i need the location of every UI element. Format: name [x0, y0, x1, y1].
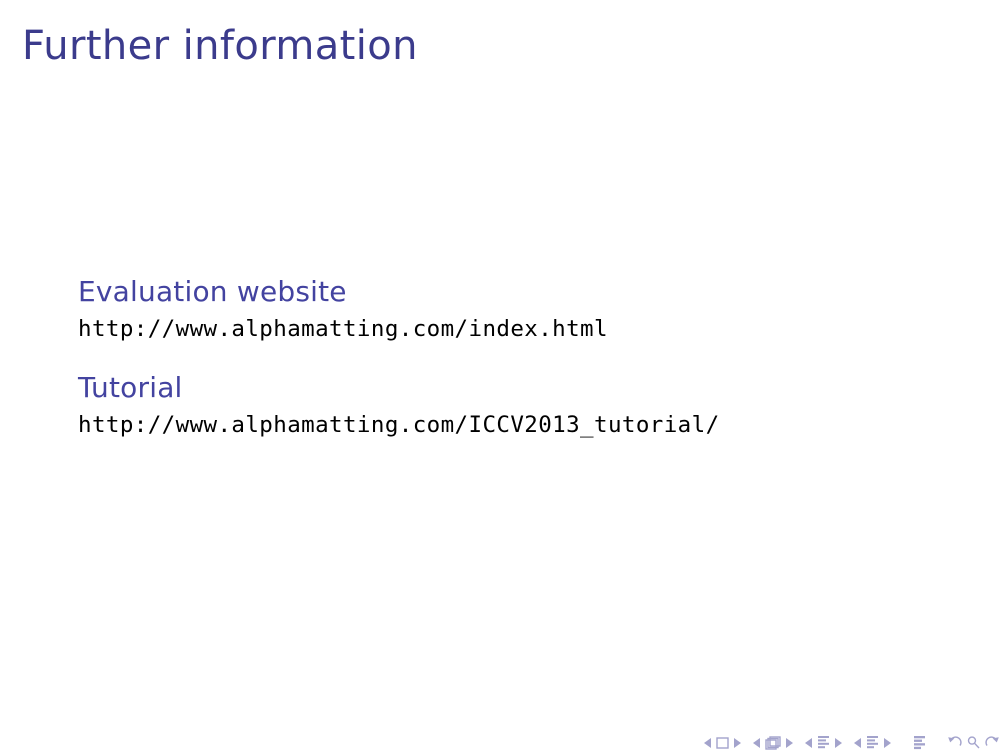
- square-icon[interactable]: [715, 736, 730, 750]
- slide-content: Evaluation website http://www.alphamatti…: [78, 274, 938, 441]
- section-navigation-group: [853, 735, 892, 750]
- beamer-slide: Further information Evaluation website h…: [0, 0, 1008, 756]
- block-body-tutorial: http://www.alphamatting.com/ICCV2013_tut…: [78, 405, 938, 442]
- slide-navigation-group: [703, 736, 742, 750]
- triangle-right-icon[interactable]: [785, 737, 794, 749]
- lines-stack-icon[interactable]: [865, 735, 880, 750]
- lines-stack-icon[interactable]: [816, 735, 831, 750]
- presentation-navigation-group: [912, 735, 927, 750]
- triangle-left-icon[interactable]: [752, 737, 761, 749]
- block-title-tutorial: Tutorial: [78, 370, 938, 405]
- triangle-right-icon[interactable]: [834, 737, 843, 749]
- arrow-forward-icon[interactable]: [984, 735, 1000, 750]
- evaluation-website-url[interactable]: http://www.alphamatting.com/index.html: [78, 313, 608, 346]
- arrow-back-icon[interactable]: [947, 735, 963, 750]
- tutorial-url[interactable]: http://www.alphamatting.com/ICCV2013_tut…: [78, 409, 720, 442]
- triangle-right-icon[interactable]: [883, 737, 892, 749]
- block-tutorial: Tutorial http://www.alphamatting.com/ICC…: [78, 370, 938, 442]
- history-navigation-group: [947, 735, 1000, 750]
- frame-navigation-group: [752, 735, 794, 750]
- triangle-left-icon[interactable]: [703, 737, 712, 749]
- stacked-squares-icon[interactable]: [764, 735, 782, 750]
- triangle-right-icon[interactable]: [733, 737, 742, 749]
- subsection-navigation-group: [804, 735, 843, 750]
- document-lines-icon[interactable]: [912, 735, 927, 750]
- beamer-navigation-bar: [703, 735, 1000, 750]
- block-title-evaluation-website: Evaluation website: [78, 274, 938, 309]
- block-body-evaluation-website: http://www.alphamatting.com/index.html: [78, 309, 938, 346]
- triangle-left-icon[interactable]: [804, 737, 813, 749]
- page-title: Further information: [22, 24, 418, 68]
- block-evaluation-website: Evaluation website http://www.alphamatti…: [78, 274, 938, 346]
- magnifier-icon[interactable]: [966, 735, 981, 750]
- triangle-left-icon[interactable]: [853, 737, 862, 749]
